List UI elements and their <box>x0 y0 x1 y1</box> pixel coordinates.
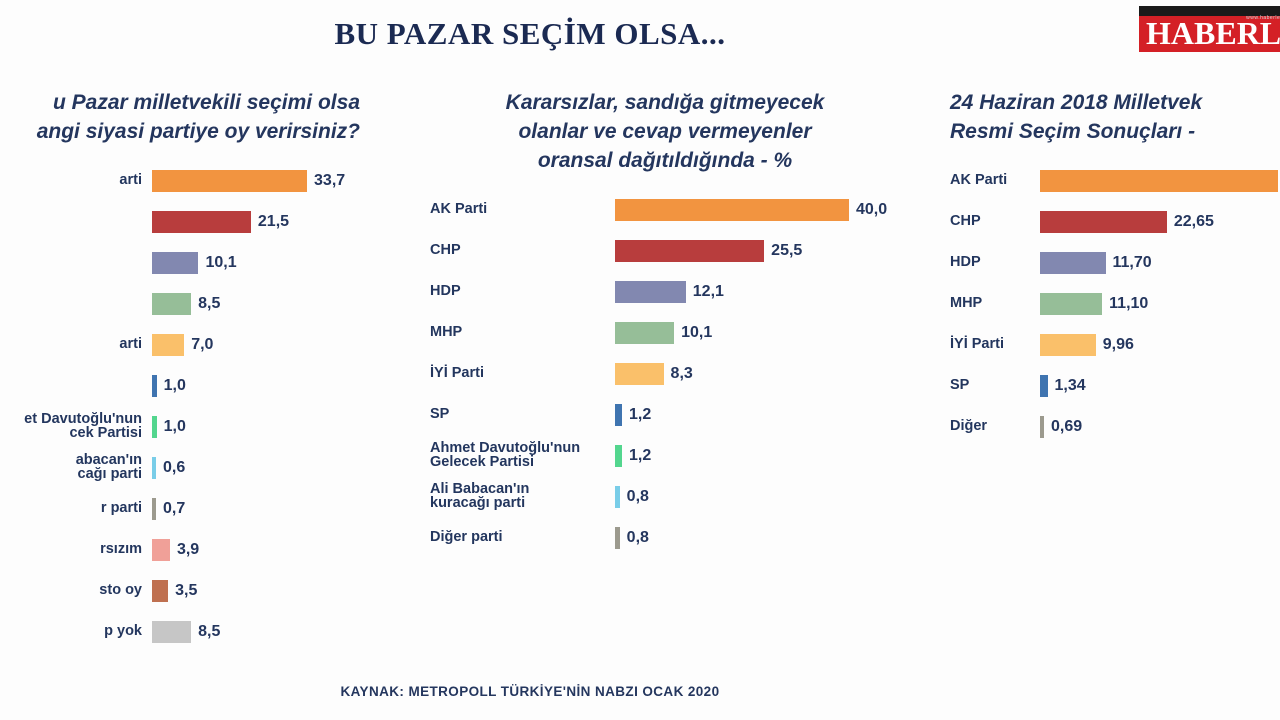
bar-zone: 11,10 <box>1040 293 1148 315</box>
bar-value-label: 1,2 <box>629 447 651 465</box>
panel-mid-heading: Kararsızlar, sandığa gitmeyecek olanlar … <box>430 88 900 175</box>
bar-zone: 3,5 <box>152 580 197 602</box>
panel-right-heading: 24 Haziran 2018 Milletvek Resmi Seçim So… <box>950 88 1280 146</box>
bar-zone: 0,6 <box>152 457 185 479</box>
bar-value-label: 40,0 <box>856 201 887 219</box>
bar-row-label: Ahmet Davutoğlu'nun Gelecek Partisi <box>430 442 615 469</box>
bar-value-label: 0,8 <box>627 529 649 547</box>
bar-row: İYİ Parti8,3 <box>430 353 910 394</box>
bar-row-label: HDP <box>430 285 615 299</box>
bar-row-label: r parti <box>0 502 152 516</box>
bar-row: SP1,34 <box>950 365 1280 406</box>
bar-row: abacan'ın cağı parti0,6 <box>0 447 390 488</box>
bar-row-label: AK Parti <box>950 174 1040 188</box>
bar-row-label: rsızım <box>0 543 152 557</box>
bar-row-label: MHP <box>950 297 1040 311</box>
bar-zone: 3,9 <box>152 539 199 561</box>
bar-value-label: 1,0 <box>164 377 186 395</box>
bar-zone: 0,7 <box>152 498 185 520</box>
bar-value-label: 1,34 <box>1055 377 1086 395</box>
bar-row: HDP11,70 <box>950 242 1280 283</box>
bar-row-label: arti <box>0 174 152 188</box>
bar-row-label: CHP <box>950 215 1040 229</box>
panel-right-heading-line1: 24 Haziran 2018 Milletvek <box>950 88 1280 117</box>
bar-zone: 12,1 <box>615 281 724 303</box>
panel-left-heading-line1: u Pazar milletvekili seçimi olsa <box>0 88 360 117</box>
bar-zone: 7,0 <box>152 334 213 356</box>
bar-value-label: 10,1 <box>205 254 236 272</box>
bar <box>152 539 170 561</box>
bar <box>615 322 674 344</box>
bar <box>615 445 622 467</box>
bar <box>152 580 168 602</box>
bar-row-label: HDP <box>950 256 1040 270</box>
bar-value-label: 9,96 <box>1103 336 1134 354</box>
bar <box>1040 252 1106 274</box>
bar-zone: 1,34 <box>1040 375 1086 397</box>
bar <box>615 281 686 303</box>
bar-zone: 10,1 <box>152 252 237 274</box>
bar-row: arti33,7 <box>0 160 390 201</box>
bar-zone: 25,5 <box>615 240 802 262</box>
panel-poll-distributed: Kararsızlar, sandığa gitmeyecek olanlar … <box>430 88 910 558</box>
bar-row-label: Diğer parti <box>430 531 615 545</box>
bar-row-label: sto oy <box>0 584 152 598</box>
bar-row: sto oy3,5 <box>0 570 390 611</box>
panel-right-heading-line2: Resmi Seçim Sonuçları - <box>950 117 1280 146</box>
bar-row-label: SP <box>430 408 615 422</box>
bar-row: MHP10,1 <box>430 312 910 353</box>
bar <box>152 416 157 438</box>
panel-mid-heading-line2: olanlar ve cevap vermeyenler <box>430 117 900 146</box>
bar <box>615 527 620 549</box>
bar <box>1040 211 1167 233</box>
panel-mid-rows: AK Parti40,0CHP25,5HDP12,1MHP10,1İYİ Par… <box>430 189 910 558</box>
haberler-logo: www.haberler.com HABERL <box>1139 6 1280 52</box>
panel-left-rows: arti33,721,510,18,5arti7,01,0et Davutoğl… <box>0 160 390 652</box>
bar <box>1040 334 1096 356</box>
bar-zone: 40,0 <box>615 199 887 221</box>
bar-value-label: 25,5 <box>771 242 802 260</box>
bar-value-label: 3,5 <box>175 582 197 600</box>
bar-row: 1,0 <box>0 365 390 406</box>
bar-zone: 0,8 <box>615 486 649 508</box>
bar-row: r parti0,7 <box>0 488 390 529</box>
bar-zone: 21,5 <box>152 211 289 233</box>
bar-zone: 10,1 <box>615 322 712 344</box>
bar-value-label: 7,0 <box>191 336 213 354</box>
bar <box>152 498 156 520</box>
bar-row-label: İYİ Parti <box>950 338 1040 352</box>
bar-row: Ali Babacan'ın kuracağı parti0,8 <box>430 476 910 517</box>
bar-row: et Davutoğlu'nun cek Partisi1,0 <box>0 406 390 447</box>
bar-row: AK Parti <box>950 160 1280 201</box>
bar-zone: 33,7 <box>152 170 345 192</box>
panel-left-heading-line2: angi siyasi partiye oy verirsiniz? <box>0 117 360 146</box>
bar-row-label: p yok <box>0 625 152 639</box>
bar-row: CHP25,5 <box>430 230 910 271</box>
bar-zone: 0,69 <box>1040 416 1082 438</box>
bar <box>1040 375 1048 397</box>
panel-mid-heading-line3: oransal dağıtıldığında - % <box>430 146 900 175</box>
bar-row-label: abacan'ın cağı parti <box>0 454 152 481</box>
bar <box>615 404 622 426</box>
bar-row: AK Parti40,0 <box>430 189 910 230</box>
bar-value-label: 22,65 <box>1174 213 1214 231</box>
bar-row: HDP12,1 <box>430 271 910 312</box>
bar <box>1040 170 1278 192</box>
bar-row: Diğer parti0,8 <box>430 517 910 558</box>
bar <box>152 293 191 315</box>
bar-value-label: 1,0 <box>164 418 186 436</box>
bar <box>615 486 620 508</box>
bar-value-label: 12,1 <box>693 283 724 301</box>
bar-row-label: Ali Babacan'ın kuracağı parti <box>430 483 615 510</box>
bar-value-label: 8,5 <box>198 623 220 641</box>
bar-row: arti7,0 <box>0 324 390 365</box>
bar-row: İYİ Parti9,96 <box>950 324 1280 365</box>
bar <box>152 252 198 274</box>
bar-zone: 11,70 <box>1040 252 1152 274</box>
source-footer: KAYNAK: METROPOLL TÜRKİYE'NİN NABZI OCAK… <box>0 684 1060 699</box>
bar-zone: 9,96 <box>1040 334 1134 356</box>
bar-row-label: SP <box>950 379 1040 393</box>
bar-value-label: 0,69 <box>1051 418 1082 436</box>
bar-row-label: MHP <box>430 326 615 340</box>
bar-row-label: arti <box>0 338 152 352</box>
bar <box>152 211 251 233</box>
bar-value-label: 1,2 <box>629 406 651 424</box>
bar-zone: 8,3 <box>615 363 693 385</box>
bar-value-label: 3,9 <box>177 541 199 559</box>
bar <box>1040 416 1044 438</box>
panel-right-rows: AK PartiCHP22,65HDP11,70MHP11,10İYİ Part… <box>950 160 1280 447</box>
bar-row: p yok8,5 <box>0 611 390 652</box>
bar-row: rsızım3,9 <box>0 529 390 570</box>
bar-value-label: 0,6 <box>163 459 185 477</box>
page-title: BU PAZAR SEÇİM OLSA... <box>0 16 1060 52</box>
bar-zone: 22,65 <box>1040 211 1214 233</box>
bar-value-label: 21,5 <box>258 213 289 231</box>
bar <box>152 334 184 356</box>
bar-row: CHP22,65 <box>950 201 1280 242</box>
bar-value-label: 11,70 <box>1113 254 1152 272</box>
panel-mid-heading-line1: Kararsızlar, sandığa gitmeyecek <box>430 88 900 117</box>
bar-row-label: CHP <box>430 244 615 258</box>
panel-official-results: 24 Haziran 2018 Milletvek Resmi Seçim So… <box>950 88 1280 447</box>
bar-value-label: 8,5 <box>198 295 220 313</box>
bar-value-label: 33,7 <box>314 172 345 190</box>
bar <box>152 621 191 643</box>
bar-row-label: Diğer <box>950 420 1040 434</box>
bar <box>152 375 157 397</box>
bar <box>615 199 849 221</box>
bar <box>615 240 764 262</box>
bar-zone: 1,0 <box>152 416 186 438</box>
bar-value-label: 0,7 <box>163 500 185 518</box>
bar-row: Ahmet Davutoğlu'nun Gelecek Partisi1,2 <box>430 435 910 476</box>
bar <box>152 170 307 192</box>
bar-zone: 1,2 <box>615 404 651 426</box>
panel-left-heading: u Pazar milletvekili seçimi olsa angi si… <box>0 88 360 146</box>
bar-value-label: 0,8 <box>627 488 649 506</box>
bar-row: Diğer0,69 <box>950 406 1280 447</box>
bar-value-label: 8,3 <box>671 365 693 383</box>
bar-row: SP1,2 <box>430 394 910 435</box>
bar-zone <box>1040 170 1280 192</box>
bar-zone: 1,0 <box>152 375 186 397</box>
bar <box>152 457 156 479</box>
bar-zone: 1,2 <box>615 445 651 467</box>
bar-zone: 8,5 <box>152 293 220 315</box>
bar-value-label: 10,1 <box>681 324 712 342</box>
panel-poll-raw: u Pazar milletvekili seçimi olsa angi si… <box>0 88 390 652</box>
bar-row: 10,1 <box>0 242 390 283</box>
logo-wordmark: HABERL <box>1139 16 1280 50</box>
bar-zone: 8,5 <box>152 621 220 643</box>
bar-row: 21,5 <box>0 201 390 242</box>
bar <box>1040 293 1102 315</box>
bar-row: MHP11,10 <box>950 283 1280 324</box>
bar-row: 8,5 <box>0 283 390 324</box>
bar-row-label: İYİ Parti <box>430 367 615 381</box>
infographic-canvas: BU PAZAR SEÇİM OLSA... www.haberler.com … <box>0 0 1280 720</box>
bar <box>615 363 664 385</box>
bar-value-label: 11,10 <box>1109 295 1148 313</box>
bar-row-label: AK Parti <box>430 203 615 217</box>
bar-zone: 0,8 <box>615 527 649 549</box>
bar-row-label: et Davutoğlu'nun cek Partisi <box>0 413 152 440</box>
